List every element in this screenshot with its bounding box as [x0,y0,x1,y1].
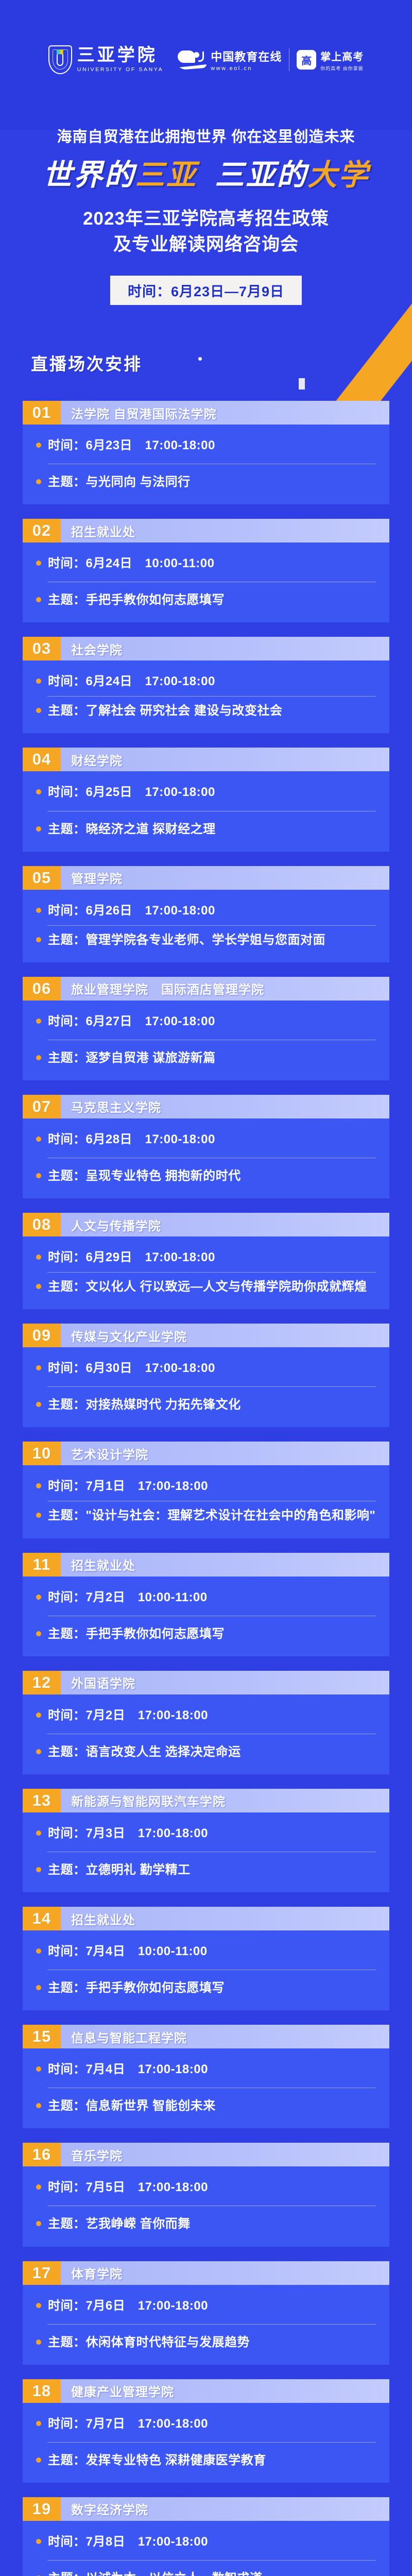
schedule-card-college: 人文与传播学院 [61,1213,389,1236]
schedule-card-divider [47,1616,376,1616]
schedule-card-divider [47,2324,376,2325]
hero-brush-title: 世界的三亚 三亚的大学 [0,151,412,194]
schedule-time-row: 时间：6月28日 17:00-18:00 [36,1131,376,1148]
schedule-card-college: 法学院 自贸港国际法学院 [61,401,389,425]
bullet-icon [36,1985,41,1990]
schedule-time: 时间：7月3日 17:00-18:00 [48,1825,208,1842]
bullet-icon [36,708,41,713]
schedule-topic: 主题：语言改变人生 选择决定命运 [48,1743,241,1761]
bullet-icon [36,1284,41,1289]
schedule-topic: 主题：逐梦自贸港 谋旅游新篇 [48,1049,216,1067]
schedule-topic: 主题：手把手教你如何志愿填写 [48,1979,225,1997]
schedule-card-body: 时间：6月30日 17:00-18:00主题：对接热媒时代 力拓先锋文化 [23,1347,389,1427]
schedule-card-body: 时间：7月4日 10:00-11:00主题：手把手教你如何志愿填写 [23,1930,389,2010]
schedule-card-body: 时间：6月29日 17:00-18:00主题：文以化人 行以致远—人文与传播学院… [23,1236,389,1309]
schedule-topic-row: 主题：与光同向 与法同行 [36,473,376,491]
schedule-topic-row: 主题：语言改变人生 选择决定命运 [36,1743,376,1761]
university-crest-icon [48,45,72,74]
schedule-card-divider [47,2206,376,2206]
schedule-card-header: 08人文与传播学院 [23,1213,389,1236]
brush-part-2: 三亚 [135,159,197,192]
schedule-card-body: 时间：6月24日 17:00-18:00主题：了解社会 研究社会 建设与改变社会 [23,660,389,733]
schedule-card-header: 04财经学院 [23,748,389,771]
schedule-card-body: 时间：7月4日 17:00-18:00主题：信息新世界 智能创未来 [23,2048,389,2128]
eol-url: www.eol.cn [211,65,282,72]
schedule-card-number: 19 [23,2497,61,2521]
header-band: 三亚学院 UNIVERSITY OF SANYA 中国教育在线 www.eol.… [0,0,412,130]
schedule-card-college: 财经学院 [61,748,389,771]
schedule-time-row: 时间：6月23日 17:00-18:00 [36,437,376,454]
schedule-topic-row: 主题：文以化人 行以致远—人文与传播学院助你成就辉煌 [36,1278,376,1296]
bullet-icon [36,2340,41,2345]
bullet-icon [36,1595,41,1600]
schedule-card-number: 01 [23,401,61,425]
schedule-time: 时间：6月29日 17:00-18:00 [48,1249,215,1266]
schedule-card-body: 时间：7月1日 17:00-18:00主题："设计与社会：理解艺术设计在社会中的… [23,1465,389,1538]
schedule-card-college: 信息与智能工程学院 [61,2025,389,2048]
gaokao-slogan: 你的高考 由你掌握 [320,65,364,72]
schedule-time: 时间：6月23日 17:00-18:00 [48,437,215,454]
schedule-time-row: 时间：6月24日 10:00-11:00 [36,555,376,572]
schedule-time-row: 时间：7月4日 10:00-11:00 [36,1943,376,1960]
schedule-card-header: 14招生就业处 [23,1907,389,1930]
bullet-icon [36,2221,41,2226]
schedule-card-college: 招生就业处 [61,1553,389,1577]
schedule-card-header: 07马克思主义学院 [23,1095,389,1118]
schedule-card-body: 时间：6月23日 17:00-18:00主题：与光同向 与法同行 [23,425,389,504]
bullet-icon [36,1831,41,1836]
schedule-card-college: 招生就业处 [61,1907,389,1930]
schedule-card-divider [47,1734,376,1734]
schedule-time: 时间：6月24日 17:00-18:00 [48,673,215,690]
schedule-card-number: 18 [23,2379,61,2403]
schedule-card-header: 05管理学院 [23,866,389,890]
schedule-card-divider [47,1272,376,1273]
schedule-topic-row: 主题：以诚为本，以信立人，数智求道 [36,2570,376,2576]
schedule-time: 时间：6月27日 17:00-18:00 [48,1013,215,1030]
schedule-card-divider [47,1501,376,1501]
schedule-time: 时间：7月4日 10:00-11:00 [48,1943,208,1960]
schedule-topic-row: 主题：休闲体育时代特征与发展趋势 [36,2334,376,2351]
bullet-icon [36,2303,41,2308]
schedule-card-body: 时间：7月6日 17:00-18:00主题：休闲体育时代特征与发展趋势 [23,2285,389,2365]
schedule-card-header: 15信息与智能工程学院 [23,2025,389,2048]
hero-subtitle: 2023年三亚学院高考招生政策 及专业解读网络咨询会 [0,206,412,257]
schedule-time-row: 时间：7月1日 17:00-18:00 [36,1478,376,1495]
schedule-topic: 主题：手把手教你如何志愿填写 [48,1625,225,1643]
schedule-topic: 主题：管理学院各专业老师、学长学姐与您面对面 [48,931,325,949]
schedule-card-header: 01法学院 自贸港国际法学院 [23,401,389,425]
schedule-time-row: 时间：7月3日 17:00-18:00 [36,1825,376,1842]
schedule-topic-row: 主题：立德明礼 勤学精工 [36,1861,376,1879]
date-chip: 时间：6月23日—7月9日 [110,276,302,305]
gaokao-name-cn: 掌上高考 [320,48,364,63]
schedule-card: 03社会学院时间：6月24日 17:00-18:00主题：了解社会 研究社会 建… [23,637,389,733]
eol-logo: 中国教育在线 www.eol.cn [178,48,282,72]
schedule-card-college: 健康产业管理学院 [61,2379,389,2403]
schedule-card-college: 马克思主义学院 [61,1095,389,1118]
bullet-icon [36,1749,41,1754]
bullet-icon [36,937,41,942]
schedule-card-college: 外国语学院 [61,1671,389,1694]
schedule-topic-row: 主题：信息新世界 智能创未来 [36,2097,376,2115]
schedule-card-header: 16音乐学院 [23,2143,389,2166]
schedule-card-number: 06 [23,977,61,1001]
schedule-topic-row: 主题：对接热媒时代 力拓先锋文化 [36,1396,376,1414]
schedule-card: 09传媒与文化产业学院时间：6月30日 17:00-18:00主题：对接热媒时代… [23,1324,389,1427]
schedule-time-row: 时间：7月7日 17:00-18:00 [36,2415,376,2433]
schedule-time: 时间：6月30日 17:00-18:00 [48,1360,215,1377]
brush-part-3: 三亚的 [215,159,307,192]
schedule-card-body: 时间：6月27日 17:00-18:00主题：逐梦自贸港 谋旅游新篇 [23,1001,389,1080]
schedule-time-row: 时间：7月2日 17:00-18:00 [36,1707,376,1724]
schedule-card-college: 社会学院 [61,637,389,660]
schedule-card-divider [47,925,376,926]
schedule-topic: 主题：手把手教你如何志愿填写 [48,591,225,609]
schedule-topic-row: 主题：发挥专业特色 深耕健康医学教育 [36,2452,376,2469]
schedule-card: 12外国语学院时间：7月2日 17:00-18:00主题：语言改变人生 选择决定… [23,1671,389,1774]
schedule-card-number: 14 [23,1907,61,1930]
schedule-card-header: 13新能源与智能网联汽车学院 [23,1789,389,1812]
schedule-card-college: 旅业管理学院 国际酒店管理学院 [61,977,389,1001]
page-title: 直播场次安排 [31,350,142,375]
schedule-card-body: 时间：7月3日 17:00-18:00主题：立德明礼 勤学精工 [23,1812,389,1892]
schedule-card-body: 时间：6月24日 10:00-11:00主题：手把手教你如何志愿填写 [23,543,389,622]
schedule-topic-row: 主题：晓经济之道 探财经之理 [36,821,376,838]
schedule-card-college: 音乐学院 [61,2143,389,2166]
gaokao-badge-icon: 高 [297,50,316,70]
schedule-time-row: 时间：7月5日 17:00-18:00 [36,2179,376,2196]
schedule-card-header: 11招生就业处 [23,1553,389,1577]
schedule-card-number: 05 [23,866,61,890]
logo-divider [289,48,289,71]
schedule-card: 04财经学院时间：6月25日 17:00-18:00主题：晓经济之道 探财经之理 [23,748,389,851]
schedule-card-divider [47,811,376,811]
gaokao-logo: 高 掌上高考 你的高考 由你掌握 [297,48,364,72]
schedule-card-college: 招生就业处 [61,519,389,543]
bullet-icon [36,1513,41,1518]
schedule-card-header: 17体育学院 [23,2261,389,2285]
schedule-topic-row: 主题：艺我峥嵘 音你而舞 [36,2215,376,2233]
schedule-card-divider [47,1040,376,1040]
university-name-cn: 三亚学院 [77,47,163,64]
bullet-icon [36,1483,41,1488]
schedule-topic-row: 主题：逐梦自贸港 谋旅游新篇 [36,1049,376,1067]
schedule-card-body: 时间：6月25日 17:00-18:00主题：晓经济之道 探财经之理 [23,771,389,851]
schedule-topic: 主题："设计与社会：理解艺术设计在社会中的角色和影响" [48,1507,375,1524]
schedule-card-number: 11 [23,1553,61,1577]
bullet-icon [36,908,41,913]
hero-subtitle-line1: 2023年三亚学院高考招生政策 [0,206,412,232]
bullet-icon [36,1019,41,1024]
schedule-time-row: 时间：6月27日 17:00-18:00 [36,1013,376,1030]
schedule-topic-row: 主题："设计与社会：理解艺术设计在社会中的角色和影响" [36,1507,376,1524]
bullet-icon [36,1867,41,1872]
schedule-card-college: 新能源与智能网联汽车学院 [61,1789,389,1812]
schedule-card-header: 06旅业管理学院 国际酒店管理学院 [23,977,389,1001]
schedule-card-college: 体育学院 [61,2261,389,2285]
bullet-icon [36,1173,41,1178]
eol-name-cn: 中国教育在线 [211,48,282,64]
schedule-card-divider [47,2088,376,2088]
schedule-card-divider [47,582,376,582]
schedule-time-row: 时间：7月2日 10:00-11:00 [36,1589,376,1606]
bullet-icon [36,479,41,484]
schedule-time: 时间：6月26日 17:00-18:00 [48,902,215,920]
logo-row: 三亚学院 UNIVERSITY OF SANYA 中国教育在线 www.eol.… [0,35,412,84]
university-logo: 三亚学院 UNIVERSITY OF SANYA [48,45,163,74]
bullet-icon [36,789,41,794]
schedule-card-header: 02招生就业处 [23,519,389,543]
schedule-card-body: 时间：7月5日 17:00-18:00主题：艺我峥嵘 音你而舞 [23,2166,389,2246]
bullet-icon [36,679,41,684]
schedule-topic-row: 主题：呈现专业特色 拥抱新的时代 [36,1167,376,1185]
hero-tagline: 海南自贸港在此拥抱世界 你在这里创造未来 [0,125,412,146]
schedule-card: 19数字经济学院时间：7月8日 17:00-18:00主题：以诚为本，以信立人，… [23,2497,389,2576]
schedule-card-number: 03 [23,637,61,660]
schedule-card-body: 时间：6月28日 17:00-18:00主题：呈现专业特色 拥抱新的时代 [23,1118,389,1198]
schedule-card-number: 12 [23,1671,61,1694]
schedule-card-divider [47,464,376,464]
brush-part-4: 大学 [307,159,369,192]
schedule-time: 时间：7月1日 17:00-18:00 [48,1478,208,1495]
schedule-card-number: 16 [23,2143,61,2166]
schedule-topic-row: 主题：手把手教你如何志愿填写 [36,1625,376,1643]
schedule-card-number: 08 [23,1213,61,1236]
schedule-card-college: 数字经济学院 [61,2497,389,2521]
schedule-time: 时间：7月2日 10:00-11:00 [48,1589,208,1606]
schedule-card-college: 传媒与文化产业学院 [61,1324,389,1347]
bullet-icon [36,1255,41,1260]
bullet-icon [36,2184,41,2190]
schedule-time: 时间：7月7日 17:00-18:00 [48,2415,208,2433]
schedule-card-divider [47,1158,376,1158]
schedule-card-header: 19数字经济学院 [23,2497,389,2521]
schedule-topic: 主题：晓经济之道 探财经之理 [48,821,216,838]
schedule-time: 时间：6月24日 10:00-11:00 [48,555,214,572]
schedule-card-college: 艺术设计学院 [61,1442,389,1465]
bullet-icon [36,1713,41,1718]
schedule-time: 时间：7月5日 17:00-18:00 [48,2179,208,2196]
schedule-topic-row: 主题：管理学院各专业老师、学长学姐与您面对面 [36,931,376,949]
bullet-icon [36,2066,41,2072]
eol-mark-icon [178,49,207,70]
bullet-icon [36,597,41,602]
schedule-time: 时间：6月28日 17:00-18:00 [48,1131,215,1148]
schedule-topic: 主题：休闲体育时代特征与发展趋势 [48,2334,250,2351]
schedule-topic: 主题：艺我峥嵘 音你而舞 [48,2215,191,2233]
schedule-card-divider [47,2442,376,2443]
schedule-card: 15信息与智能工程学院时间：7月4日 17:00-18:00主题：信息新世界 智… [23,2025,389,2128]
schedule-topic: 主题：发挥专业特色 深耕健康医学教育 [48,2452,266,2469]
schedule-card-divider [47,1852,376,1852]
schedule-card-body: 时间：7月2日 17:00-18:00主题：语言改变人生 选择决定命运 [23,1694,389,1774]
schedule-card-number: 15 [23,2025,61,2048]
schedule-card: 17体育学院时间：7月6日 17:00-18:00主题：休闲体育时代特征与发展趋… [23,2261,389,2365]
schedule-card: 13新能源与智能网联汽车学院时间：7月3日 17:00-18:00主题：立德明礼… [23,1789,389,1892]
schedule-card-number: 04 [23,748,61,771]
schedule-card-college: 管理学院 [61,866,389,890]
schedule-card-number: 09 [23,1324,61,1347]
bullet-icon [36,561,41,566]
schedule-card-divider [47,1970,376,1970]
bullet-icon [36,1402,41,1407]
schedule-list: 01法学院 自贸港国际法学院时间：6月23日 17:00-18:00主题：与光同… [0,401,412,2576]
schedule-time-row: 时间：6月26日 17:00-18:00 [36,902,376,920]
schedule-card-body: 时间：6月26日 17:00-18:00主题：管理学院各专业老师、学长学姐与您面… [23,890,389,962]
schedule-card: 01法学院 自贸港国际法学院时间：6月23日 17:00-18:00主题：与光同… [23,401,389,504]
bullet-icon [36,1055,41,1060]
bullet-icon [36,2103,41,2108]
schedule-card: 11招生就业处时间：7月2日 10:00-11:00主题：手把手教你如何志愿填写 [23,1553,389,1656]
bullet-icon [36,2421,41,2426]
schedule-card-body: 时间：7月7日 17:00-18:00主题：发挥专业特色 深耕健康医学教育 [23,2403,389,2483]
bullet-icon [36,1365,41,1370]
bullet-icon [36,1631,41,1636]
schedule-card-header: 18健康产业管理学院 [23,2379,389,2403]
schedule-time: 时间：7月4日 17:00-18:00 [48,2061,208,2078]
schedule-card: 18健康产业管理学院时间：7月7日 17:00-18:00主题：发挥专业特色 深… [23,2379,389,2483]
schedule-time-row: 时间：6月24日 17:00-18:00 [36,673,376,690]
schedule-time: 时间：6月25日 17:00-18:00 [48,784,215,801]
bullet-icon [36,1948,41,1954]
schedule-card-header: 12外国语学院 [23,1671,389,1694]
schedule-topic: 主题：了解社会 研究社会 建设与改变社会 [48,702,282,720]
schedule-topic: 主题：立德明礼 勤学精工 [48,1861,191,1879]
schedule-card: 16音乐学院时间：7月5日 17:00-18:00主题：艺我峥嵘 音你而舞 [23,2143,389,2246]
schedule-time-row: 时间：6月25日 17:00-18:00 [36,784,376,801]
bullet-icon [36,1137,41,1142]
schedule-time-row: 时间：6月29日 17:00-18:00 [36,1249,376,1266]
schedule-card-header: 03社会学院 [23,637,389,660]
schedule-card: 07马克思主义学院时间：6月28日 17:00-18:00主题：呈现专业特色 拥… [23,1095,389,1198]
schedule-card: 14招生就业处时间：7月4日 10:00-11:00主题：手把手教你如何志愿填写 [23,1907,389,2010]
schedule-card-number: 07 [23,1095,61,1118]
schedule-card-divider [47,696,376,697]
schedule-topic: 主题：以诚为本，以信立人，数智求道 [48,2570,263,2576]
schedule-card-number: 10 [23,1442,61,1465]
brush-part-1: 世界的 [43,159,135,192]
schedule-topic: 主题：信息新世界 智能创未来 [48,2097,216,2115]
university-name-en: UNIVERSITY OF SANYA [77,66,163,73]
schedule-card: 02招生就业处时间：6月24日 10:00-11:00主题：手把手教你如何志愿填… [23,519,389,622]
schedule-topic: 主题：对接热媒时代 力拓先锋文化 [48,1396,241,1414]
schedule-card-body: 时间：7月8日 17:00-18:00主题：以诚为本，以信立人，数智求道 [23,2521,389,2576]
schedule-time: 时间：7月2日 17:00-18:00 [48,1707,208,1724]
bullet-icon [36,443,41,448]
schedule-time-row: 时间：7月4日 17:00-18:00 [36,2061,376,2078]
schedule-topic: 主题：呈现专业特色 拥抱新的时代 [48,1167,241,1185]
schedule-card-header: 10艺术设计学院 [23,1442,389,1465]
schedule-card-divider [47,2560,376,2561]
bullet-icon [36,826,41,832]
schedule-topic-row: 主题：了解社会 研究社会 建设与改变社会 [36,702,376,720]
schedule-card-header: 09传媒与文化产业学院 [23,1324,389,1347]
schedule-card: 10艺术设计学院时间：7月1日 17:00-18:00主题："设计与社会：理解艺… [23,1442,389,1538]
schedule-time-row: 时间：7月6日 17:00-18:00 [36,2297,376,2315]
schedule-card-number: 17 [23,2261,61,2285]
schedule-card: 06旅业管理学院 国际酒店管理学院时间：6月27日 17:00-18:00主题：… [23,977,389,1080]
schedule-card-number: 02 [23,519,61,543]
schedule-time-row: 时间：7月8日 17:00-18:00 [36,2533,376,2551]
square-decor [299,378,305,389]
schedule-topic: 主题：与光同向 与法同行 [48,473,191,491]
schedule-card-body: 时间：7月2日 10:00-11:00主题：手把手教你如何志愿填写 [23,1577,389,1656]
schedule-topic: 主题：文以化人 行以致远—人文与传播学院助你成就辉煌 [48,1278,367,1296]
schedule-card: 08人文与传播学院时间：6月29日 17:00-18:00主题：文以化人 行以致… [23,1213,389,1309]
hero-subtitle-line2: 及专业解读网络咨询会 [0,232,412,258]
schedule-topic-row: 主题：手把手教你如何志愿填写 [36,1979,376,1997]
schedule-card: 05管理学院时间：6月26日 17:00-18:00主题：管理学院各专业老师、学… [23,866,389,962]
schedule-card-number: 13 [23,1789,61,1812]
schedule-topic-row: 主题：手把手教你如何志愿填写 [36,591,376,609]
bullet-dot-decor [198,357,202,361]
schedule-time-row: 时间：6月30日 17:00-18:00 [36,1360,376,1377]
bullet-icon [36,2539,41,2544]
bullet-icon [36,2458,41,2463]
schedule-card-divider [47,1386,376,1387]
schedule-time: 时间：7月6日 17:00-18:00 [48,2297,208,2315]
schedule-time: 时间：7月8日 17:00-18:00 [48,2533,208,2551]
